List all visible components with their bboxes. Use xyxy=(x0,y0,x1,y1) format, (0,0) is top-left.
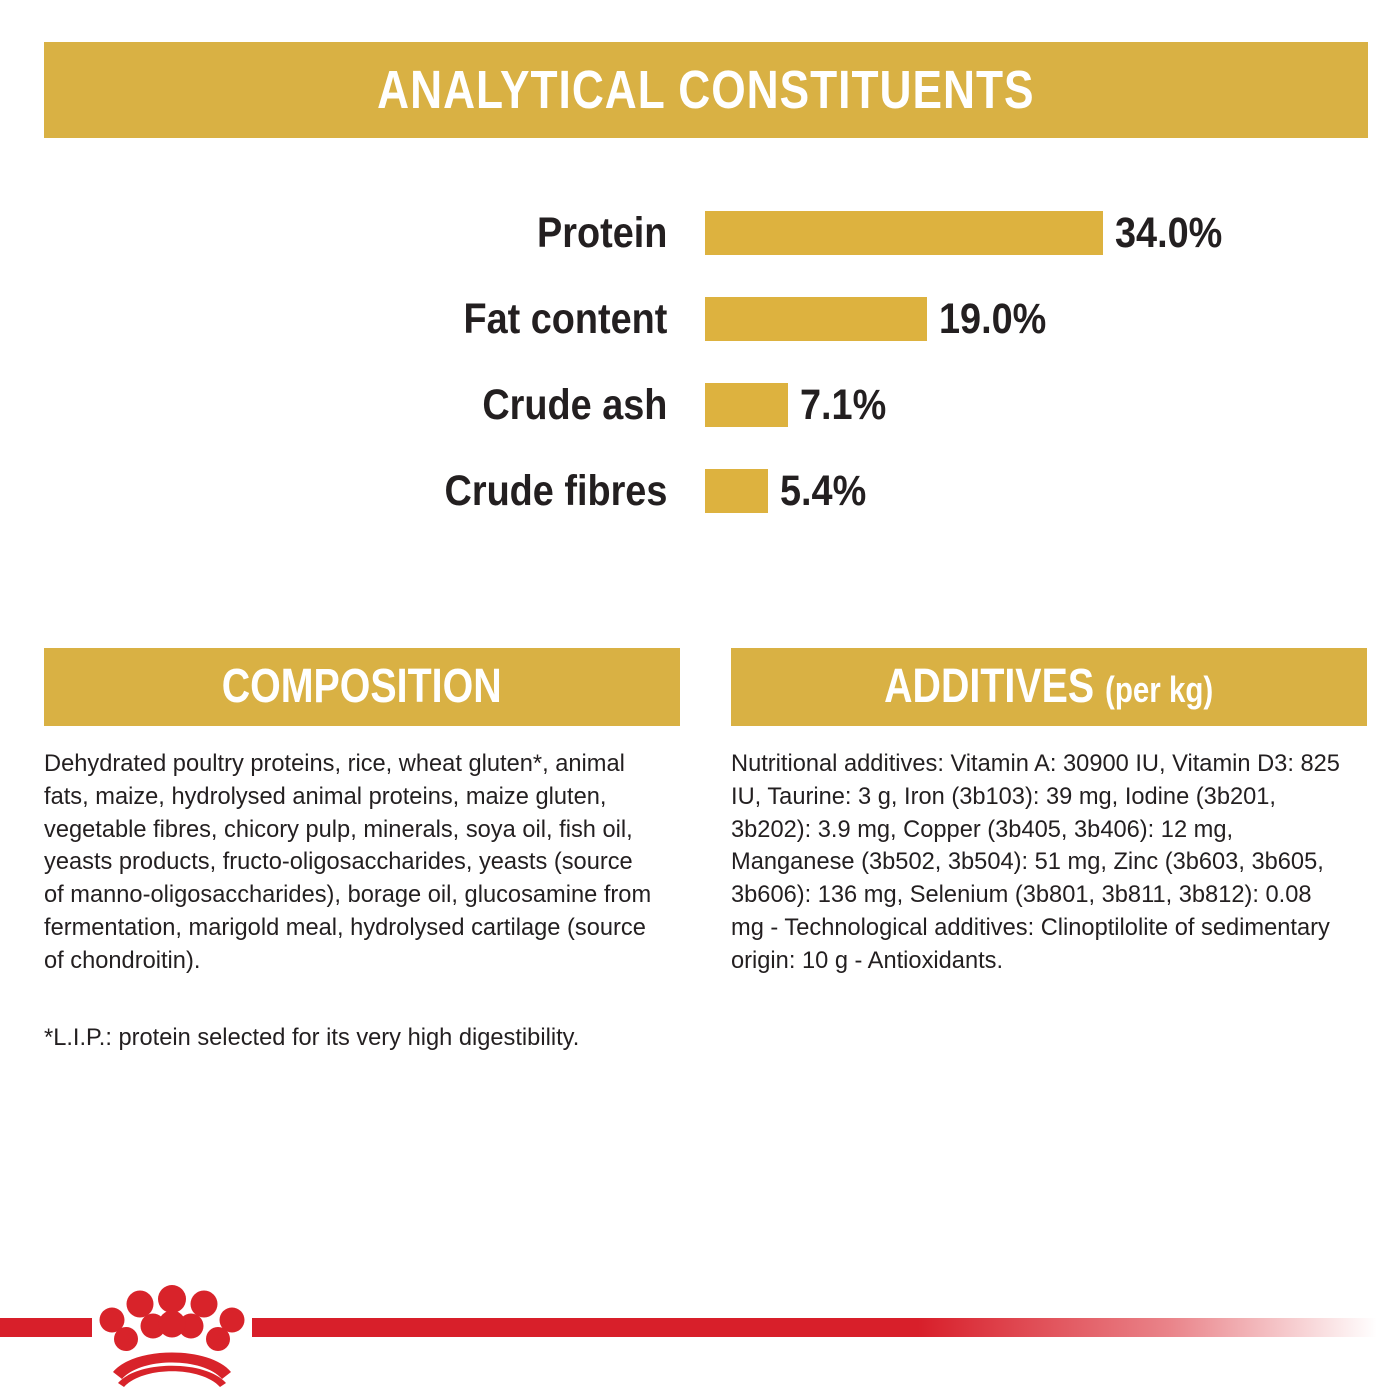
chart-value-crude-fibres: 5.4% xyxy=(780,467,866,516)
chart-bar-group-protein: 34.0% xyxy=(705,209,1237,258)
composition-column: COMPOSITION Dehydrated poultry proteins,… xyxy=(44,648,680,1055)
composition-heading: COMPOSITION xyxy=(222,663,502,711)
additives-banner: ADDITIVES (per kg) xyxy=(731,648,1367,726)
analytical-constituents-chart: Protein 34.0% Fat content 19.0% Crude as… xyxy=(0,190,1400,534)
chart-value-crude-ash: 7.1% xyxy=(800,381,886,430)
composition-text: Dehydrated poultry proteins, rice, wheat… xyxy=(44,748,658,978)
chart-label-crude-fibres: Crude fibres xyxy=(82,467,685,516)
chart-bar-fat-content xyxy=(705,297,927,341)
additives-heading-main: ADDITIVES xyxy=(884,660,1094,713)
additives-heading: ADDITIVES (per kg) xyxy=(884,663,1213,711)
chart-bar-group-fat-content: 19.0% xyxy=(705,295,1061,344)
chart-label-crude-ash: Crude ash xyxy=(82,381,685,430)
chart-bar-protein xyxy=(705,211,1103,255)
chart-value-protein: 34.0% xyxy=(1115,209,1222,258)
royal-canin-crown-icon xyxy=(96,1284,248,1388)
chart-row-protein: Protein 34.0% xyxy=(0,190,1400,276)
footer-rule-left xyxy=(0,1318,92,1337)
chart-row-fat-content: Fat content 19.0% xyxy=(0,276,1400,362)
additives-heading-suffix: (per kg) xyxy=(1105,669,1213,710)
chart-label-protein: Protein xyxy=(82,209,685,258)
chart-bar-crude-ash xyxy=(705,383,788,427)
chart-bar-group-crude-fibres: 5.4% xyxy=(705,467,878,516)
chart-row-crude-ash: Crude ash 7.1% xyxy=(0,362,1400,448)
composition-banner: COMPOSITION xyxy=(44,648,680,726)
analytical-constituents-banner: ANALYTICAL CONSTITUENTS xyxy=(44,42,1368,138)
chart-bar-crude-fibres xyxy=(705,469,768,513)
footer-rule-right xyxy=(252,1318,1400,1337)
chart-row-crude-fibres: Crude fibres 5.4% xyxy=(0,448,1400,534)
chart-bar-group-crude-ash: 7.1% xyxy=(705,381,898,430)
additives-column: ADDITIVES (per kg) Nutritional additives… xyxy=(731,648,1367,978)
additives-text: Nutritional additives: Vitamin A: 30900 … xyxy=(731,748,1345,978)
page-title: ANALYTICAL CONSTITUENTS xyxy=(377,63,1034,117)
chart-value-fat-content: 19.0% xyxy=(939,295,1046,344)
chart-label-fat-content: Fat content xyxy=(82,295,685,344)
composition-note: *L.I.P.: protein selected for its very h… xyxy=(44,1022,658,1055)
footer xyxy=(0,1280,1400,1400)
